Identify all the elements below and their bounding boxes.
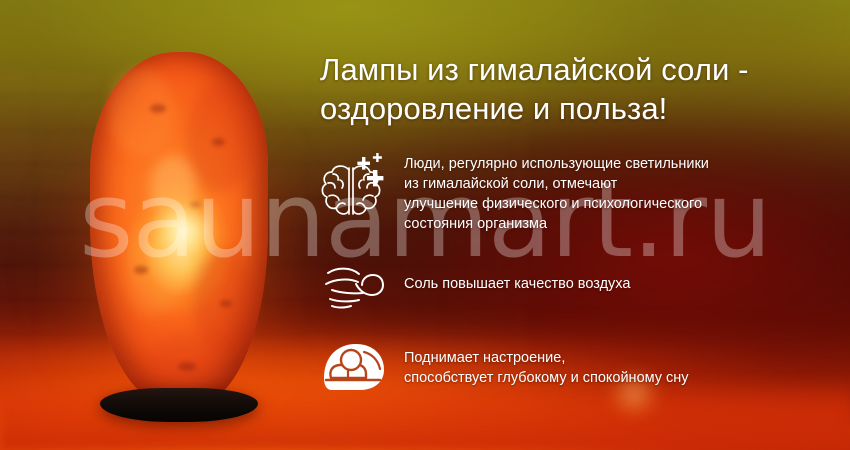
headline-line-1: Лампы из гималайской соли - <box>320 50 840 89</box>
benefit-text-brain: Люди, регулярно использующие светильники… <box>404 152 709 234</box>
sleeping-person-icon <box>318 338 392 394</box>
lamp-speck <box>134 266 148 274</box>
lamp-speck <box>178 362 196 371</box>
benefit-item-brain: Люди, регулярно использующие светильники… <box>318 152 838 234</box>
wind-swirl-icon <box>318 258 392 312</box>
brain-sparkle-icon <box>318 152 392 224</box>
lamp-speck <box>212 138 225 146</box>
lamp-facet <box>186 82 256 192</box>
benefit-line: Соль повышает качество воздуха <box>404 274 630 294</box>
lamp-facet <box>108 68 174 156</box>
lamp-speck <box>220 300 232 307</box>
benefit-line: состояния организма <box>404 214 709 234</box>
benefits-list: Люди, регулярно использующие светильники… <box>318 152 838 394</box>
lamp-wooden-base <box>100 388 258 422</box>
benefit-item-sleep: Поднимает настроение, способствует глубо… <box>318 338 838 394</box>
benefit-line: из гималайской соли, отмечают <box>404 174 709 194</box>
lamp-salt-crystal-body <box>90 52 268 404</box>
benefit-line: Люди, регулярно использующие светильники <box>404 154 709 174</box>
benefit-text-air: Соль повышает качество воздуха <box>404 258 630 294</box>
lamp-inner-light <box>152 200 216 262</box>
himalayan-salt-lamp-image <box>78 52 278 432</box>
salt-lamp-promo-banner: saunamart.ru Лампы из гималайской соли -… <box>0 0 850 450</box>
benefit-text-sleep: Поднимает настроение, способствует глубо… <box>404 338 689 388</box>
benefit-line: улучшение физического и психологического <box>404 194 709 214</box>
lamp-speck <box>150 104 166 113</box>
page-title: Лампы из гималайской соли - оздоровление… <box>320 50 840 128</box>
headline-line-2: оздоровление и польза! <box>320 89 840 128</box>
benefit-line: способствует глубокому и спокойному сну <box>404 368 689 388</box>
benefit-item-air: Соль повышает качество воздуха <box>318 258 838 312</box>
benefit-line: Поднимает настроение, <box>404 348 689 368</box>
